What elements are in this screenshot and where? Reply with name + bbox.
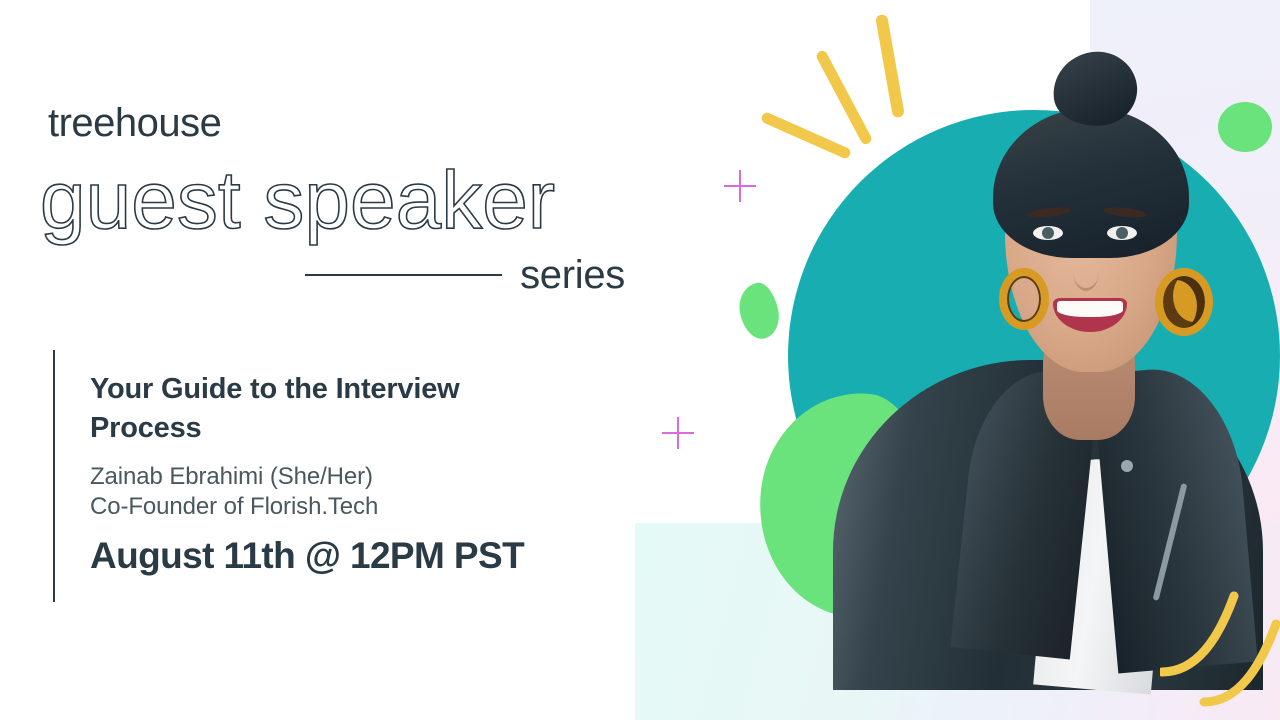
- session-title: Your Guide to the Interview Process: [90, 370, 560, 447]
- plus-mark-icon: [662, 417, 694, 449]
- eye-left: [1033, 226, 1063, 240]
- session-datetime: August 11th @ 12PM PST: [90, 536, 524, 577]
- speaker-role: Co-Founder of Florish.Tech: [90, 491, 378, 523]
- promo-slide: treehouse guest speaker series Your Guid…: [0, 0, 1280, 720]
- horizontal-rule: [305, 274, 502, 276]
- jacket-stud: [1121, 460, 1133, 472]
- program-suffix: series: [520, 255, 625, 295]
- earring-right: [1155, 268, 1213, 336]
- eye-right: [1107, 226, 1137, 240]
- program-title-outline: guest speaker: [40, 160, 555, 242]
- speaker-name: Zainab Ebrahimi (She/Her): [90, 461, 373, 493]
- series-row: series: [305, 255, 625, 295]
- plus-mark-icon: [724, 170, 756, 202]
- yellow-squiggle-icon: [1160, 580, 1280, 720]
- earring-left: [999, 268, 1049, 330]
- vertical-rule: [53, 350, 55, 602]
- teeth: [1057, 301, 1123, 317]
- hair: [993, 108, 1189, 258]
- brand-name: treehouse: [48, 103, 221, 143]
- green-blob-small-shape: [735, 280, 784, 343]
- nose: [1073, 252, 1099, 291]
